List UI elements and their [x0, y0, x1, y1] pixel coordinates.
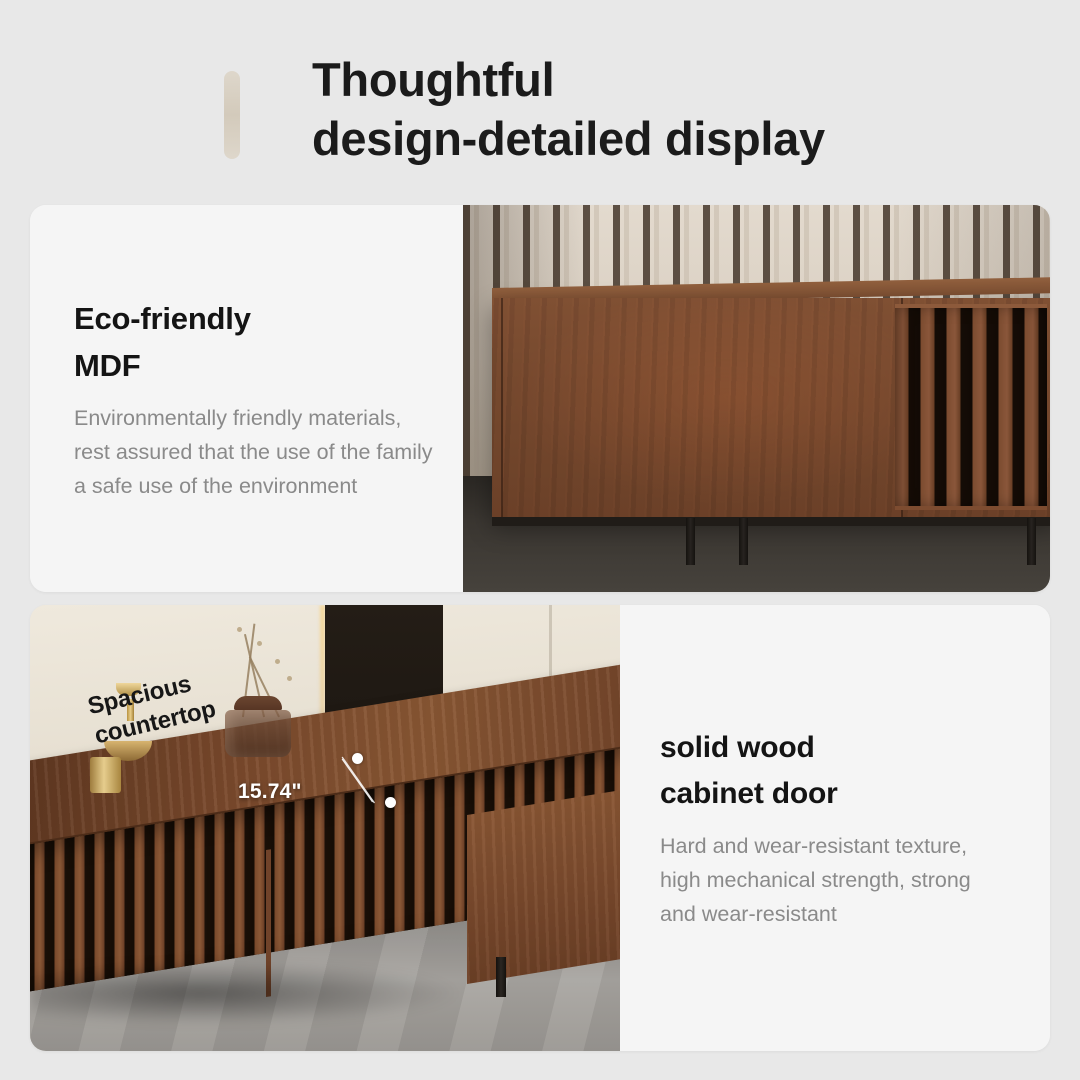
page-title-line-2: design-detailed display	[312, 109, 1012, 168]
cabinet-leg	[496, 957, 506, 997]
feature-heading-line-2: MDF	[74, 342, 463, 389]
branch-bud	[275, 659, 280, 664]
cabinet-leg	[686, 518, 695, 564]
photo-scene-slat-wall-sideboard	[463, 205, 1050, 592]
cabinet-floor-shadow	[30, 962, 455, 1024]
feature-heading: Eco-friendly MDF	[74, 295, 463, 389]
photo-scene-countertop-perspective: Spacious countertop 15.74"	[30, 605, 620, 1051]
page-title-line-1: Thoughtful	[312, 50, 1012, 109]
cabinet-leg	[1027, 518, 1036, 564]
feature-photo-eco-friendly-mdf	[463, 205, 1050, 592]
page-title: Thoughtful design-detailed display	[312, 50, 1012, 168]
feature-card-solid-wood-cabinet-door: Spacious countertop 15.74"	[30, 605, 1050, 1051]
branch-bud	[257, 641, 262, 646]
feature-heading: solid wood cabinet door	[660, 725, 1050, 817]
feature-heading-line-1: solid wood	[660, 725, 1050, 771]
branch-bud	[237, 627, 242, 632]
feature-body-text: Hard and wear-resistant texture, high me…	[660, 829, 1000, 931]
slatted-cabinet-door	[895, 304, 1047, 509]
feature-heading-line-2: cabinet door	[660, 771, 1050, 817]
accent-bar-icon	[224, 71, 240, 159]
brass-cylinder-decor	[90, 757, 121, 793]
feature-body-text: Environmentally friendly materials, rest…	[74, 401, 434, 503]
cabinet-body	[492, 298, 1050, 519]
feature-heading-line-1: Eco-friendly	[74, 295, 463, 342]
infographic-page: Thoughtful design-detailed display Eco-f…	[0, 0, 1080, 1080]
smoked-glass-jar-decor	[225, 710, 291, 757]
cabinet-leg	[739, 518, 748, 564]
feature-photo-solid-wood-cabinet-door: Spacious countertop 15.74"	[30, 605, 620, 1051]
feature-text-pane: solid wood cabinet door Hard and wear-re…	[620, 605, 1050, 1051]
feature-text-pane: Eco-friendly MDF Environmentally friendl…	[30, 205, 463, 592]
cabinet-plinth	[492, 517, 1050, 526]
page-header: Thoughtful design-detailed display	[0, 0, 1080, 205]
solid-wood-door-panel	[467, 784, 620, 984]
glass-jar-lid	[234, 696, 282, 710]
brass-candle-stem	[127, 699, 134, 721]
door-seam	[501, 298, 503, 519]
feature-card-eco-friendly-mdf: Eco-friendly MDF Environmentally friendl…	[30, 205, 1050, 592]
